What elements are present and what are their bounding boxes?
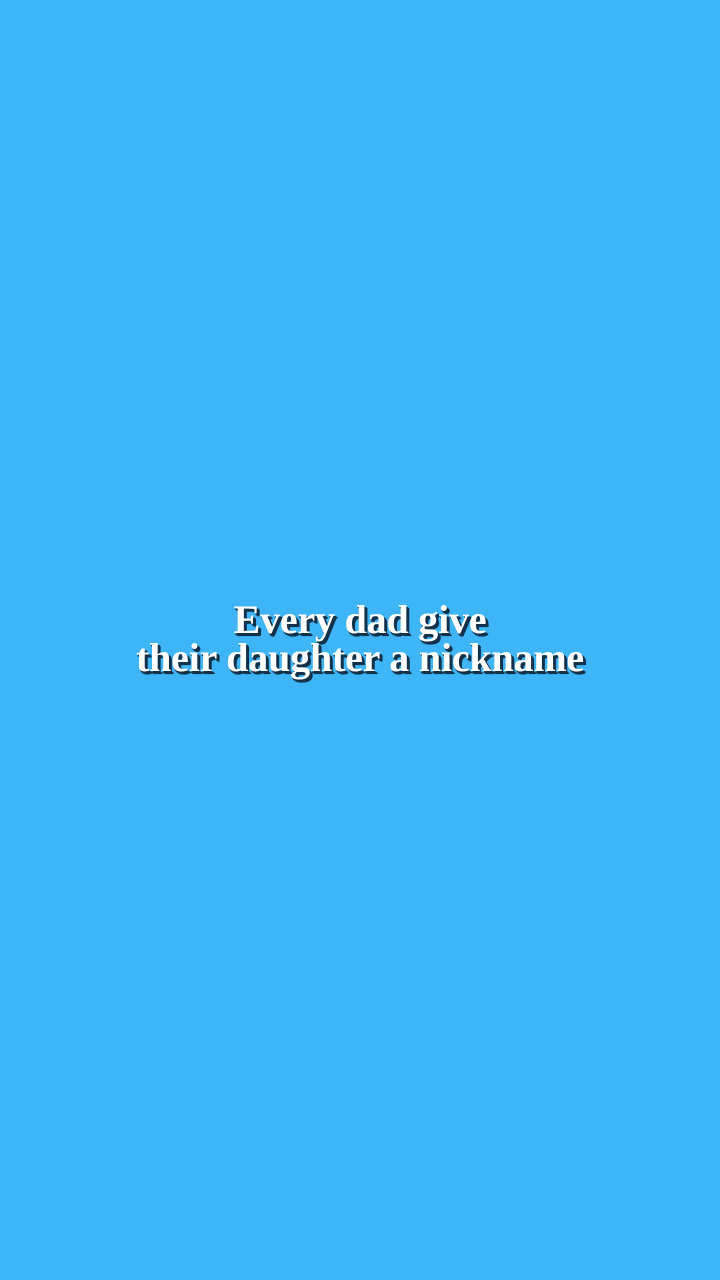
caption-line-2: their daughter a nickname <box>136 639 584 677</box>
caption-text-block: Every dad give their daughter a nickname <box>0 0 720 1280</box>
caption-card-canvas: Every dad give their daughter a nickname <box>0 0 720 1280</box>
caption-line-1: Every dad give <box>234 601 487 639</box>
